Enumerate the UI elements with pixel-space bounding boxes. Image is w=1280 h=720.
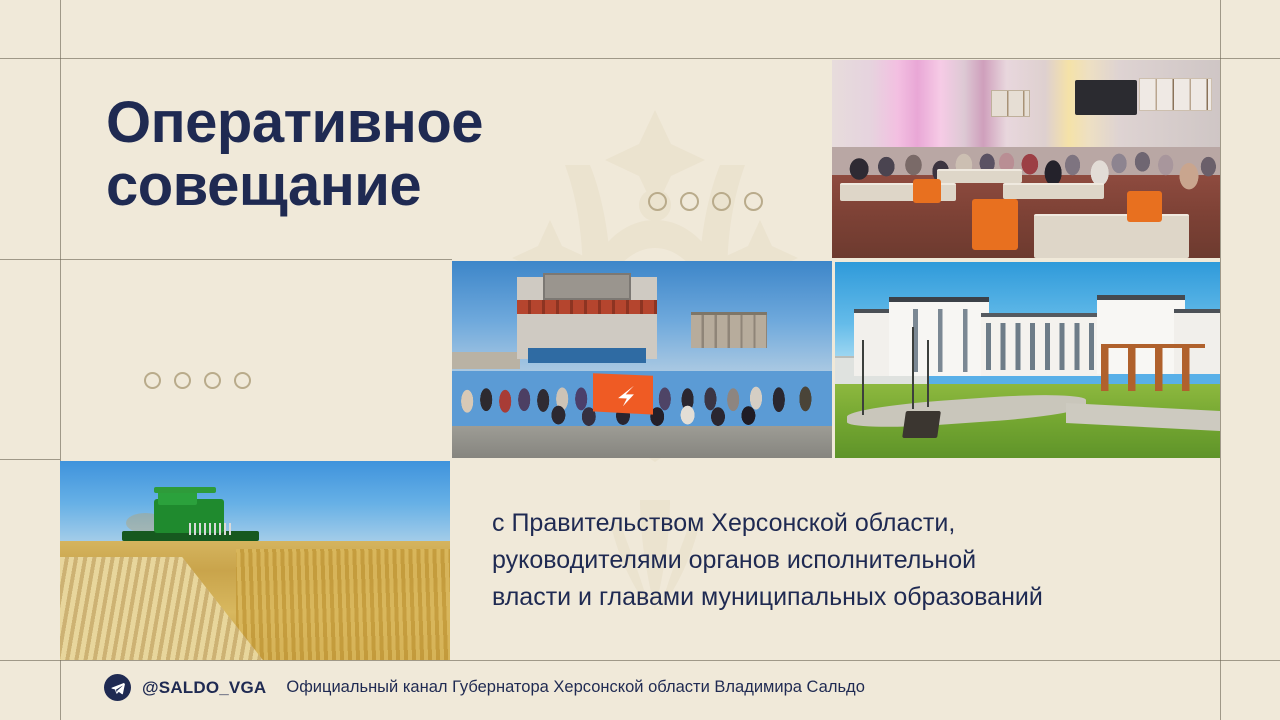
decorative-dots-top — [648, 192, 763, 211]
photo-region-chair — [913, 179, 940, 203]
photo-region-lamp-post — [862, 340, 864, 414]
circle-icon — [680, 192, 699, 211]
photo-region-windows-left — [893, 309, 985, 372]
photo-region-watchtower — [543, 273, 630, 301]
telegram-icon[interactable] — [104, 674, 131, 701]
photo-region-harvester-cab — [158, 491, 197, 505]
footer-divider — [0, 660, 1280, 661]
photo-region-orange-banner — [593, 373, 654, 414]
photo-region-railing — [517, 300, 658, 314]
circle-icon — [712, 192, 731, 211]
footer: @SALDO_VGA Официальный канал Губернатора… — [104, 674, 865, 701]
circle-icon — [174, 372, 191, 389]
photo-region-windows-center — [981, 323, 1104, 370]
photo-region-table — [1034, 214, 1189, 258]
photo-conference-hall — [832, 60, 1220, 258]
grid-line-vertical-right — [1220, 0, 1221, 720]
photo-region-pergola — [691, 312, 767, 347]
subtitle-line-2: руководителями органов исполнительной — [492, 542, 1192, 579]
grid-line-horizontal-top — [0, 58, 1280, 59]
photo-region-harvester-roof — [154, 487, 216, 493]
subtitle: с Правительством Херсонской области, рук… — [492, 505, 1192, 616]
photo-region-shelf-2 — [991, 90, 1030, 118]
photo-region-standing-wheat — [236, 549, 451, 660]
photo-wheat-harvest — [60, 461, 450, 660]
subtitle-line-3: власти и главами муниципальных образован… — [492, 579, 1192, 616]
photo-campus-buildings — [835, 262, 1220, 458]
photo-region-chair — [972, 199, 1019, 250]
channel-description: Официальный канал Губернатора Херсонской… — [286, 678, 865, 697]
subtitle-line-1: с Правительством Херсонской области, — [492, 505, 1192, 542]
grid-line-horizontal-low — [0, 459, 60, 460]
decorative-dots-left — [144, 372, 251, 389]
circle-icon — [648, 192, 667, 211]
grid-line-horizontal-mid — [0, 259, 452, 260]
page-title-line-2: совещание — [106, 155, 666, 218]
circle-icon — [234, 372, 251, 389]
photo-region-harvester-reel — [189, 523, 232, 535]
circle-icon — [744, 192, 763, 211]
photo-region-bench — [902, 411, 940, 438]
page-title: Оперативное совещание — [106, 92, 666, 217]
photo-region-pergola — [1101, 344, 1205, 391]
telegram-handle[interactable]: @SALDO_VGA — [142, 678, 266, 698]
photo-region-table — [1003, 183, 1104, 199]
photo-region-chair — [1127, 191, 1162, 223]
photo-region-screen — [1075, 80, 1137, 116]
circle-icon — [204, 372, 221, 389]
photo-region-shelf — [1139, 78, 1213, 112]
page-title-line-1: Оперативное — [106, 92, 666, 155]
photo-region-lamp-post — [912, 327, 914, 409]
photo-youth-group — [452, 261, 832, 458]
presentation-slide: Оперативное совещание — [0, 0, 1280, 720]
photo-region-table — [937, 169, 1022, 183]
photo-region-lamp-post — [927, 340, 929, 407]
circle-icon — [144, 372, 161, 389]
